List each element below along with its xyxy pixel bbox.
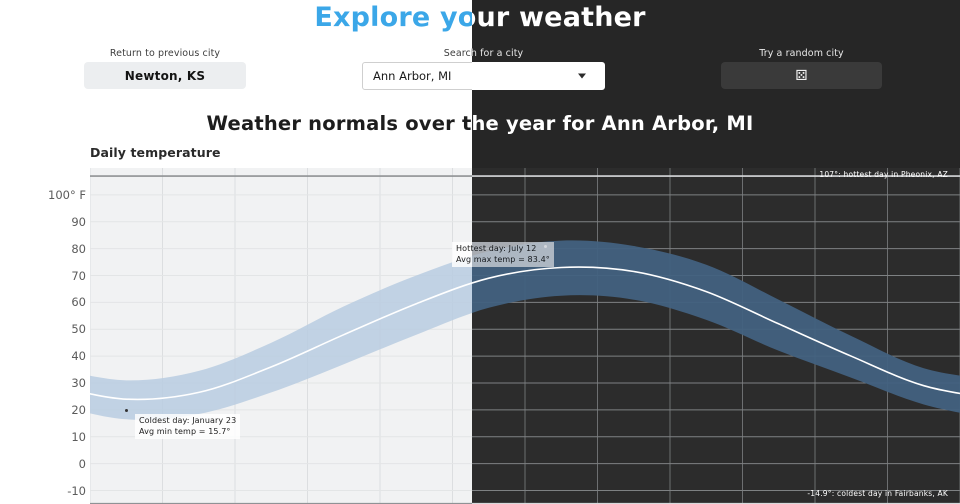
y-axis-tick: 70	[34, 269, 86, 283]
y-axis-tick: 40	[34, 349, 86, 363]
record-hot-label-dark: 107°: hottest day in Pheonix, AZ	[819, 170, 948, 179]
y-axis-tick: -10	[34, 484, 86, 498]
coldest-day-marker	[125, 409, 128, 412]
random-city-control-dark: Try a random city ⚄	[721, 48, 882, 89]
coldest-day-line1: Coldest day: January 23	[139, 416, 236, 427]
y-axis-tick: 30	[34, 376, 86, 390]
coldest-day-annotation: Coldest day: January 23 Avg min temp = 1…	[135, 414, 240, 439]
y-axis-tick: 90	[34, 215, 86, 229]
y-axis-tick: 80	[34, 242, 86, 256]
previous-city-label: Return to previous city	[84, 48, 246, 59]
y-axis-tick: 100° F	[34, 188, 86, 202]
chevron-down-icon-dark	[578, 74, 586, 79]
city-search-value: Ann Arbor, MI	[373, 69, 451, 83]
y-axis-light: 100° F9080706050403020100-10	[30, 168, 86, 504]
y-axis-tick: 50	[34, 322, 86, 336]
y-axis-tick: 0	[34, 457, 86, 471]
y-axis-tick: 20	[34, 403, 86, 417]
y-axis-tick: 10	[34, 430, 86, 444]
coldest-day-line2: Avg min temp = 15.7°	[139, 427, 236, 438]
y-axis-tick: 60	[34, 295, 86, 309]
previous-city-control: Return to previous city Newton, KS	[84, 48, 246, 89]
dice-icon-dark: ⚄	[795, 69, 807, 83]
random-city-label-dark: Try a random city	[721, 48, 882, 59]
weather-app-page: Explore your weather Return to previous …	[0, 0, 960, 504]
chart-subtitle: Daily temperature	[90, 145, 221, 160]
random-city-button-dark[interactable]: ⚄	[721, 62, 882, 89]
record-cold-label-dark: -14.9°: coldest day in Fairbanks, AK	[807, 489, 948, 498]
previous-city-button[interactable]: Newton, KS	[84, 62, 246, 89]
